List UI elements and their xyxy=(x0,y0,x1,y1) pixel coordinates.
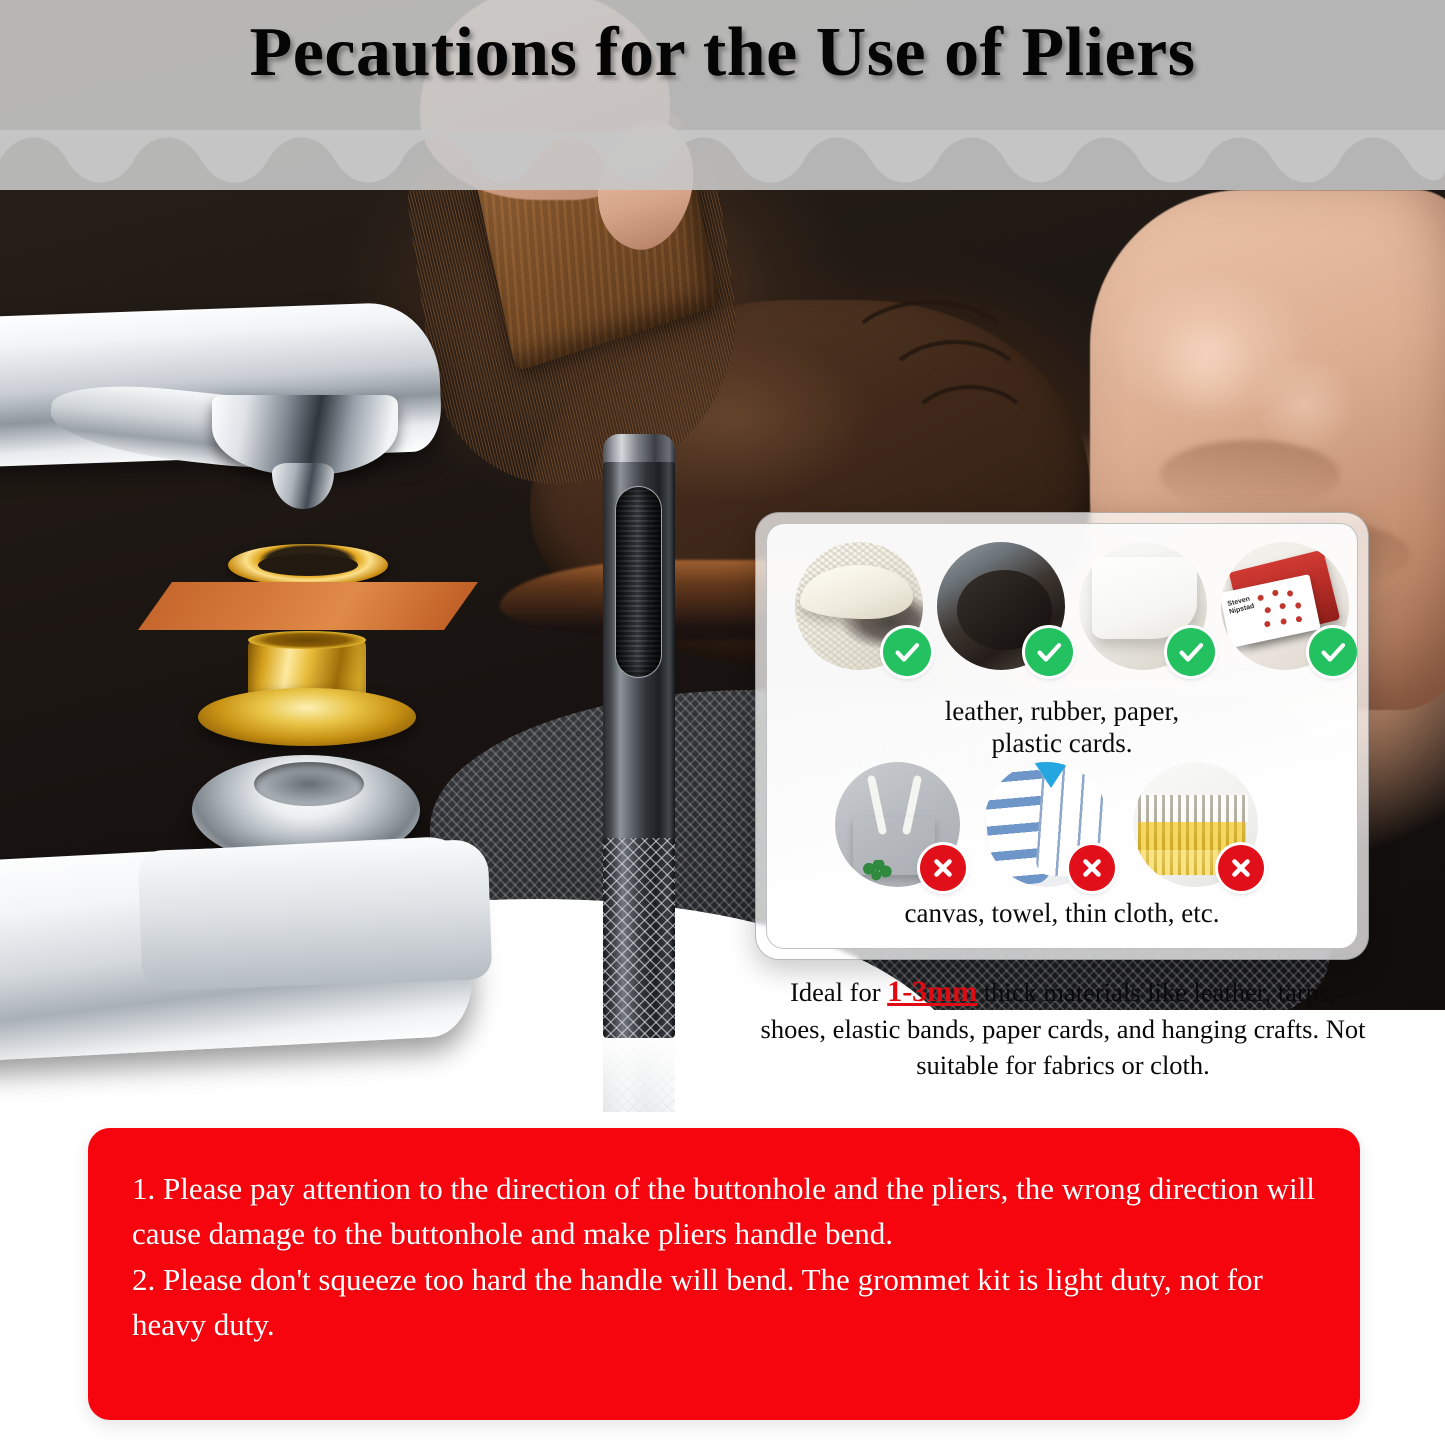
grommet-setting-illustration xyxy=(0,300,560,1120)
material-thumb-towel xyxy=(984,762,1109,887)
material-thumb-paper xyxy=(1079,542,1207,670)
material-thumb-thin-cloth xyxy=(1133,762,1258,887)
punch-tool-reflection xyxy=(603,1034,675,1112)
material-thumb-plastic-cards: Steven Nipstad xyxy=(1221,542,1349,670)
check-icon xyxy=(883,628,931,676)
gold-grommet-flange xyxy=(198,688,416,746)
ideal-prefix: Ideal for xyxy=(790,977,887,1007)
punch-slot-window xyxy=(615,486,662,678)
plier-lower-pad xyxy=(138,839,493,991)
finger-crease xyxy=(1160,440,1340,510)
material-thumb-rubber xyxy=(937,542,1065,670)
suitable-materials-row: Steven Nipstad xyxy=(795,542,1349,670)
check-icon xyxy=(1167,628,1215,676)
material-thumb-canvas-bag xyxy=(835,762,960,887)
page-title: Pecautions for the Use of Pliers xyxy=(0,14,1445,91)
punch-knurled-grip xyxy=(603,838,675,1038)
material-card-inner: Steven Nipstad leather, rubber, xyxy=(766,523,1358,949)
cross-icon xyxy=(1069,845,1115,891)
knuckle xyxy=(1150,320,1260,410)
ideal-materials-note: Ideal for 1-3mm thick materials like lea… xyxy=(760,972,1366,1083)
setting-die-tip xyxy=(272,463,334,509)
warning-item-1: 1. Please pay attention to the direction… xyxy=(132,1166,1316,1257)
suitable-label-line2: plastic cards. xyxy=(767,728,1357,760)
unsuitable-materials-label: canvas, towel, thin cloth, etc. xyxy=(767,898,1357,930)
knuckle xyxy=(1250,360,1360,450)
infographic-page: Pecautions for the Use of Pliers xyxy=(0,0,1445,1445)
suitable-materials-label: leather, rubber, paper, plastic cards. xyxy=(767,696,1357,760)
check-icon xyxy=(1025,628,1073,676)
gold-washer-ring xyxy=(228,544,388,586)
unsuitable-materials-row xyxy=(835,762,1258,887)
cloth-layer-grey xyxy=(1138,795,1248,823)
cross-icon xyxy=(920,845,966,891)
warning-box: 1. Please pay attention to the direction… xyxy=(88,1128,1360,1420)
warning-item-2: 2. Please don't squeeze too hard the han… xyxy=(132,1257,1316,1348)
chrome-anvil-hole xyxy=(254,762,364,806)
cross-icon xyxy=(1218,845,1264,891)
suitable-label-line1: leather, rubber, paper, xyxy=(767,696,1357,728)
thickness-highlight: 1-3mm xyxy=(887,975,977,1008)
hole-punch-tool xyxy=(601,434,677,1034)
material-compatibility-card: Steven Nipstad leather, rubber, xyxy=(755,512,1369,960)
shoe-lace xyxy=(905,385,1035,485)
check-icon xyxy=(1309,628,1357,676)
material-thumb-leather xyxy=(795,542,923,670)
wave-divider-icon xyxy=(0,130,1445,190)
orange-leather-sheet xyxy=(138,582,478,630)
card-icon-grid xyxy=(1252,580,1315,636)
leaf-print-icon xyxy=(863,860,893,882)
